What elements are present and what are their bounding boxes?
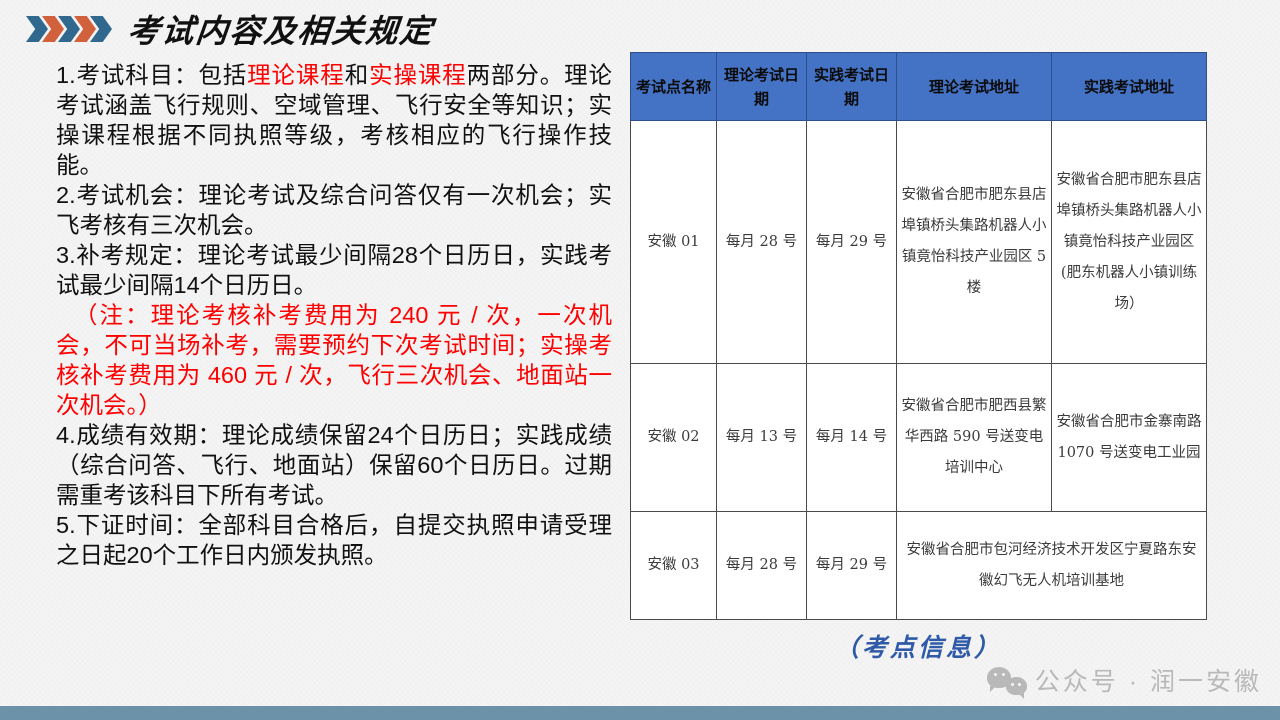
column-header-theory-address: 理论考试地址 — [897, 53, 1052, 121]
column-header-practice-address: 实践考试地址 — [1052, 53, 1207, 121]
cell-practice-date: 每月 14 号 — [807, 364, 897, 512]
regulations-text-block: 1.考试科目：包括理论课程和实操课程两部分。理论考试涵盖飞行规则、空域管理、飞行… — [56, 60, 612, 570]
cell-site-name: 安徽 01 — [631, 121, 717, 364]
exam-sites-table: 考试点名称 理论考试日期 实践考试日期 理论考试地址 实践考试地址 安徽 01 … — [630, 52, 1207, 620]
table-header-row: 考试点名称 理论考试日期 实践考试日期 理论考试地址 实践考试地址 — [631, 53, 1207, 121]
column-header-theory-date: 理论考试日期 — [717, 53, 807, 121]
regulation-item-1: 1.考试科目：包括理论课程和实操课程两部分。理论考试涵盖飞行规则、空域管理、飞行… — [56, 60, 612, 180]
cell-theory-date: 每月 13 号 — [717, 364, 807, 512]
item1-mid: 和 — [345, 62, 369, 88]
regulation-note-retake-fee: （注：理论考核补考费用为 240 元 / 次，一次机会，不可当场补考，需要预约下… — [56, 300, 612, 420]
page-title: 考试内容及相关规定 — [126, 6, 437, 52]
cell-practice-address: 安徽省合肥市金寨南路 1070 号送变电工业园 — [1052, 364, 1207, 512]
bottom-accent-bar — [0, 706, 1280, 720]
regulation-item-5: 5.下证时间：全部科目合格后，自提交执照申请受理之日起20个工作日内颁发执照。 — [56, 510, 612, 570]
regulation-item-4: 4.成绩有效期：理论成绩保留24个日历日；实践成绩（综合问答、飞行、地面站）保留… — [56, 420, 612, 510]
column-header-site-name: 考试点名称 — [631, 53, 717, 121]
watermark: 公众号 · 润一安徽 — [987, 662, 1262, 698]
table-row: 安徽 03 每月 28 号 每月 29 号 安徽省合肥市包河经济技术开发区宁夏路… — [631, 512, 1207, 620]
regulation-item-3: 3.补考规定：理论考试最少间隔28个日历日，实践考试最少间隔14个日历日。 — [56, 240, 612, 300]
cell-theory-date: 每月 28 号 — [717, 121, 807, 364]
cell-merged-address: 安徽省合肥市包河经济技术开发区宁夏路东安徽幻飞无人机培训基地 — [897, 512, 1207, 620]
cell-site-name: 安徽 03 — [631, 512, 717, 620]
cell-theory-date: 每月 28 号 — [717, 512, 807, 620]
exam-sites-table-wrapper: 考试点名称 理论考试日期 实践考试日期 理论考试地址 实践考试地址 安徽 01 … — [630, 52, 1206, 620]
cell-practice-date: 每月 29 号 — [807, 512, 897, 620]
chevron-arrows-decoration — [26, 16, 106, 42]
chevron-right-icon — [26, 16, 48, 42]
table-row: 安徽 02 每月 13 号 每月 14 号 安徽省合肥市肥西县繁华西路 590 … — [631, 364, 1207, 512]
cell-practice-address: 安徽省合肥市肥东县店埠镇桥头集路机器人小镇竟怡科技产业园区(肥东机器人小镇训练场… — [1052, 121, 1207, 364]
item1-highlight-theory: 理论课程 — [247, 62, 345, 88]
item1-prefix: 1.考试科目：包括 — [56, 62, 247, 88]
cell-practice-date: 每月 29 号 — [807, 121, 897, 364]
watermark-text: 公众号 · 润一安徽 — [1035, 662, 1262, 698]
table-caption: （考点信息） — [630, 628, 1206, 664]
regulation-item-2: 2.考试机会：理论考试及综合问答仅有一次机会；实飞考核有三次机会。 — [56, 180, 612, 240]
item1-highlight-practice: 实操课程 — [369, 62, 467, 88]
column-header-practice-date: 实践考试日期 — [807, 53, 897, 121]
wechat-icon — [987, 665, 1027, 695]
cell-theory-address: 安徽省合肥市肥西县繁华西路 590 号送变电培训中心 — [897, 364, 1052, 512]
cell-site-name: 安徽 02 — [631, 364, 717, 512]
slide-header: 考试内容及相关规定 — [0, 4, 620, 54]
table-row: 安徽 01 每月 28 号 每月 29 号 安徽省合肥市肥东县店埠镇桥头集路机器… — [631, 121, 1207, 364]
cell-theory-address: 安徽省合肥市肥东县店埠镇桥头集路机器人小镇竟怡科技产业园区 5 楼 — [897, 121, 1052, 364]
